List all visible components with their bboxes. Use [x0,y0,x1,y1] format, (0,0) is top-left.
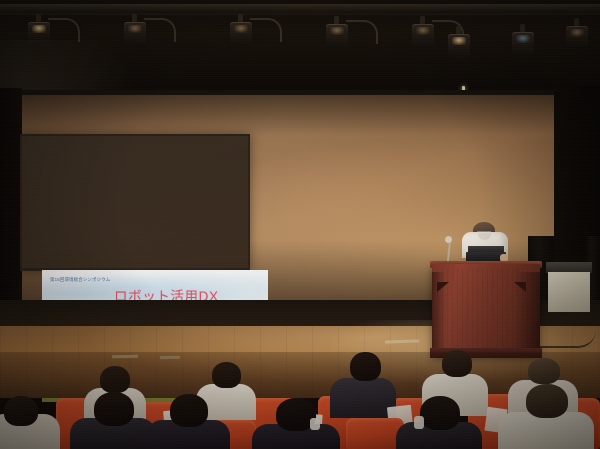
conference-photo: 第15回環境総合シンポジウム ロボット活用DX [0,0,600,449]
audience-member-head [212,362,241,388]
audience-member-head [420,396,460,430]
spotlight-icon-3 [228,14,254,48]
audience-member-head [100,366,130,393]
face-mask-icon [414,416,424,429]
spotlight-icon-6 [446,26,472,60]
audience-member-head [526,384,568,418]
face-mask-icon [310,418,320,430]
spotlight-icon-7 [510,24,536,58]
spotlight-icon-5 [410,16,436,50]
stage-masking-left [0,88,22,328]
slide-eyebrow-text: 第15回環境総合シンポジウム [50,277,110,283]
lighting-truss-bar-secondary [0,13,600,17]
audience-member-head [4,396,38,426]
cyclorama-top-shadow [14,95,574,135]
audience-member-head [94,392,134,426]
spotlight-icon-4 [324,16,350,50]
wing-monitor [548,272,590,312]
ceiling-zone [0,0,600,96]
spotlight-icon-1 [26,14,52,48]
audience-member-torso [330,378,396,418]
spotlight-icon-2 [122,14,148,48]
audience-member-head [442,350,472,377]
lighting-truss-bar [0,4,600,13]
audience-member-head [528,358,560,384]
audience-member-head [350,352,381,381]
spotlight-icon-8 [564,18,590,52]
audience-member-head [170,394,208,427]
microphone-icon [445,236,452,243]
projection-screen: 第15回環境総合シンポジウム ロボット活用DX [20,134,250,271]
